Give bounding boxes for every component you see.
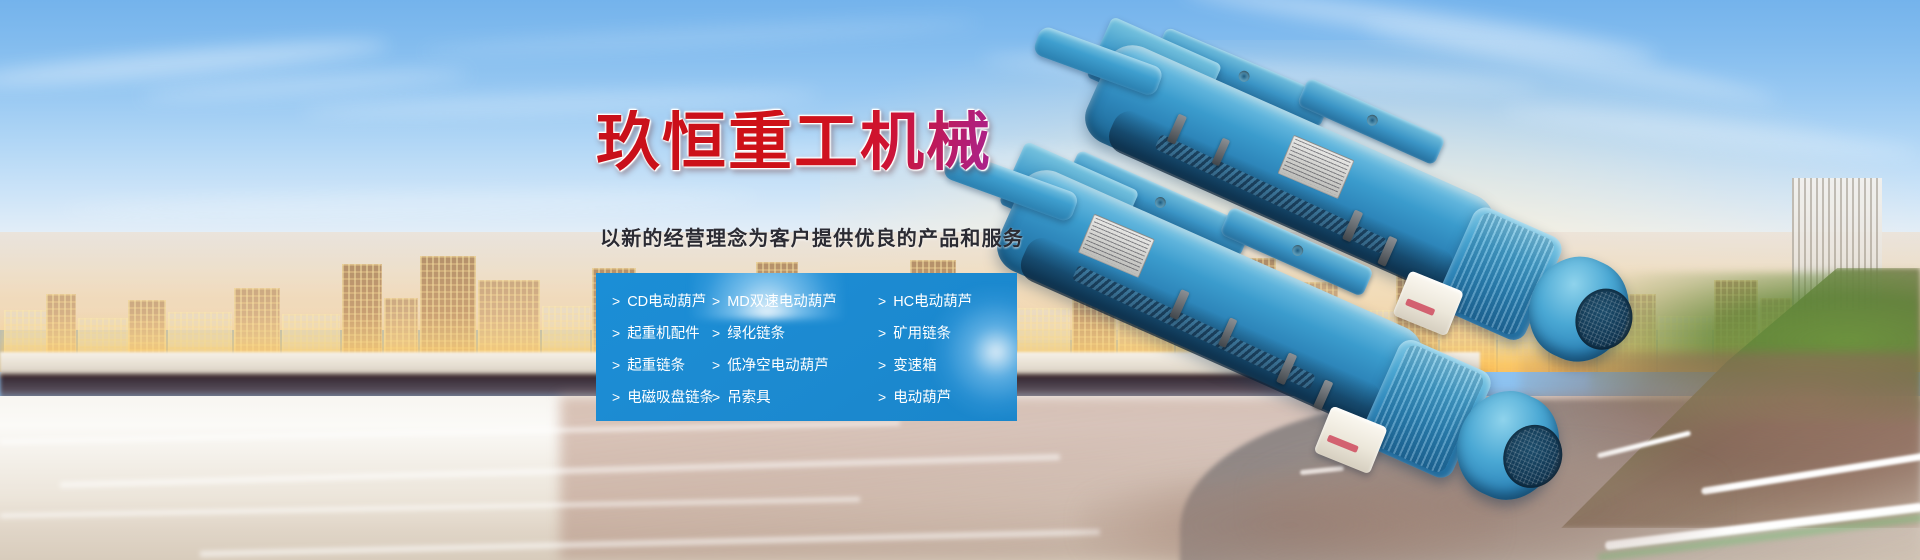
chevron-right-icon: > [712,390,720,404]
page-title: 玖恒重工机械 [596,110,992,174]
chevron-right-icon: > [612,358,620,372]
chevron-right-icon: > [878,390,886,404]
product-category-link[interactable]: >吊索具 [708,390,848,406]
product-category-label: 电动葫芦 [893,391,951,406]
product-category-link[interactable]: >低净空电动葫芦 [708,358,848,374]
chevron-right-icon: > [612,294,620,308]
product-category-link[interactable]: >电动葫芦 [848,390,1017,406]
product-category-link[interactable]: >起重机配件 [596,326,708,342]
product-category-label: CD电动葫芦 [627,295,706,310]
chevron-right-icon: > [712,326,720,340]
product-category-label: 电磁吸盘链条 [627,391,714,406]
product-category-label: MD双速电动葫芦 [727,295,837,310]
product-category-link[interactable]: >变速箱 [848,358,1017,374]
hero-banner: 玖恒重工机械 以新的经营理念为客户提供优良的产品和服务 >CD电动葫芦>MD双速… [0,0,1920,560]
product-category-link[interactable]: >绿化链条 [708,326,848,342]
product-category-link[interactable]: >CD电动葫芦 [596,294,708,310]
product-category-link[interactable]: >MD双速电动葫芦 [708,294,848,310]
product-category-label: HC电动葫芦 [893,295,972,310]
product-category-label: 变速箱 [893,359,937,374]
page-subtitle: 以新的经营理念为客户提供优良的产品和服务 [600,222,1024,251]
product-category-link[interactable]: >起重链条 [596,358,708,374]
chevron-right-icon: > [878,326,886,340]
product-category-link[interactable]: >矿用链条 [848,326,1017,342]
product-category-label: 低净空电动葫芦 [727,359,829,374]
product-category-panel: >CD电动葫芦>MD双速电动葫芦>HC电动葫芦>起重机配件>绿化链条>矿用链条>… [596,273,1017,421]
chevron-right-icon: > [878,358,886,372]
product-category-label: 矿用链条 [893,327,951,342]
product-category-label: 起重链条 [627,359,685,374]
product-category-link[interactable]: >HC电动葫芦 [848,294,1017,310]
chevron-right-icon: > [712,358,720,372]
chevron-right-icon: > [878,294,886,308]
product-category-label: 绿化链条 [727,327,785,342]
chevron-right-icon: > [712,294,720,308]
chevron-right-icon: > [612,326,620,340]
product-category-label: 吊索具 [727,391,771,406]
product-category-list: >CD电动葫芦>MD双速电动葫芦>HC电动葫芦>起重机配件>绿化链条>矿用链条>… [596,273,1017,414]
product-category-link[interactable]: >电磁吸盘链条 [596,390,708,406]
chevron-right-icon: > [612,390,620,404]
product-category-label: 起重机配件 [627,327,700,342]
